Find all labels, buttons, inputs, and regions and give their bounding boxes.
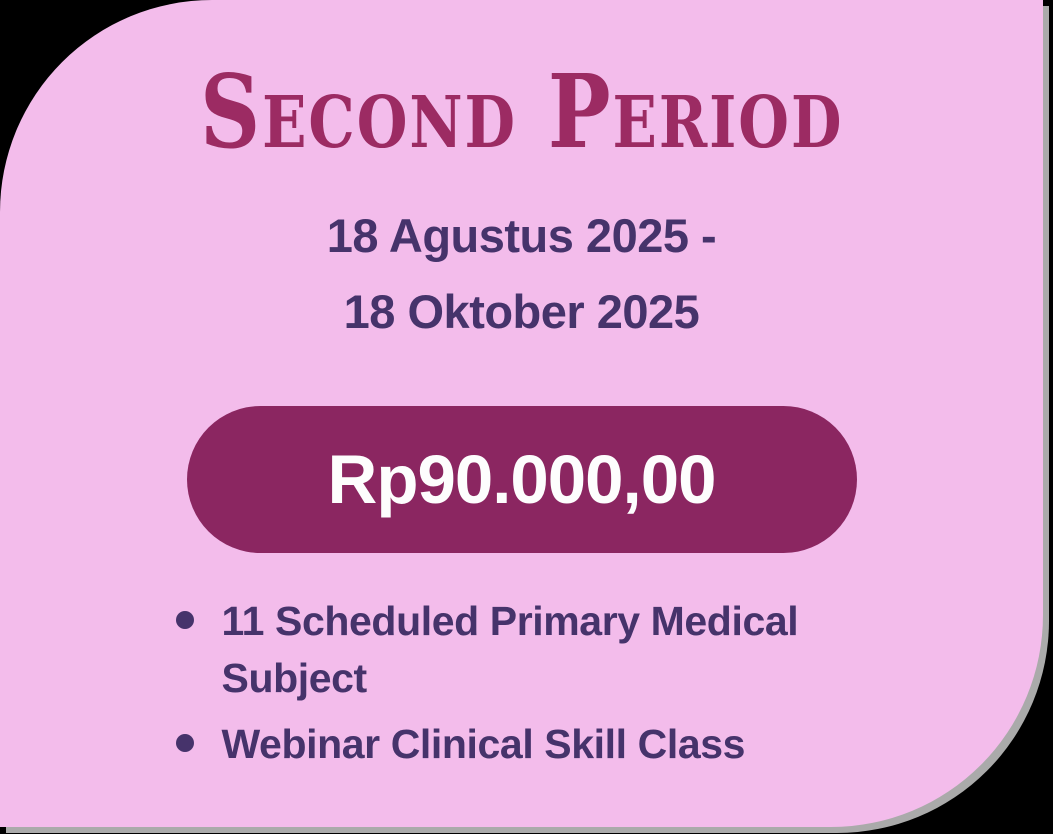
bullet-dot-icon <box>176 611 194 629</box>
screenshot-stage: Second Period 18 Agustus 2025 - 18 Oktob… <box>0 0 1053 834</box>
bullet-dot-icon <box>176 734 194 752</box>
date-range: 18 Agustus 2025 - 18 Oktober 2025 <box>327 198 716 350</box>
date-range-line-2: 18 Oktober 2025 <box>327 274 716 350</box>
pricing-card: Second Period 18 Agustus 2025 - 18 Oktob… <box>0 0 1043 827</box>
list-item: 11 Scheduled Primary Medical Subject <box>176 593 882 706</box>
pricing-card-content: Second Period 18 Agustus 2025 - 18 Oktob… <box>0 0 1043 827</box>
price-badge: Rp90.000,00 <box>187 406 857 553</box>
feature-list: 11 Scheduled Primary Medical Subject Web… <box>162 593 882 783</box>
feature-label: Webinar Clinical Skill Class <box>222 716 746 773</box>
price-amount: Rp90.000,00 <box>328 445 716 514</box>
list-item: Webinar Clinical Skill Class <box>176 716 882 773</box>
date-range-line-1: 18 Agustus 2025 - <box>327 198 716 274</box>
page-title: Second Period <box>200 62 843 163</box>
feature-label: 11 Scheduled Primary Medical Subject <box>222 593 862 706</box>
